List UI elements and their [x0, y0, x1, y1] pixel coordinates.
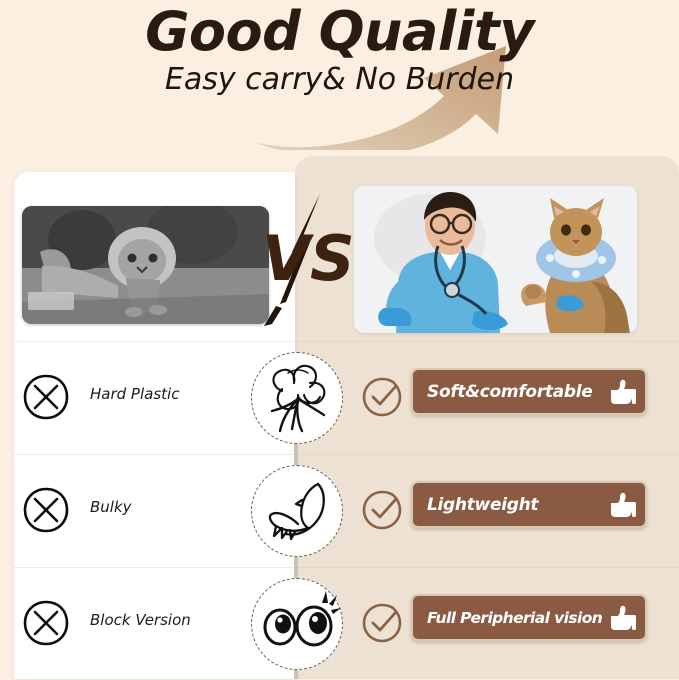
feature-circle [251, 352, 343, 444]
x-circle-icon [22, 486, 70, 534]
feather-icon [252, 466, 344, 558]
thumbs-up-icon [607, 603, 637, 633]
check-circle-icon [360, 600, 404, 644]
check-circle-icon [360, 487, 404, 531]
page-title: Good Quality [0, 4, 679, 61]
vs-badge: VS [258, 192, 354, 328]
thumbs-up-icon [607, 377, 637, 407]
thumbs-up-icon [607, 490, 637, 520]
cotton-flower-icon [252, 353, 344, 445]
con-label: Bulky [90, 498, 250, 516]
page-subtitle: Easy carry& No Burden [0, 63, 679, 96]
row-divider-left [14, 454, 295, 455]
row-divider-left [14, 567, 295, 568]
row-divider-right [295, 341, 679, 342]
pro-button[interactable]: Soft&comfortable [411, 368, 647, 415]
row-divider-left [14, 341, 295, 342]
pro-button[interactable]: Lightweight [411, 481, 647, 528]
feature-circle [251, 465, 343, 557]
title-block: Good Quality Easy carry& No Burden [0, 4, 679, 96]
row-divider-right [295, 454, 679, 455]
check-circle-icon [360, 374, 404, 418]
pro-label: Soft&comfortable [427, 382, 593, 402]
con-label: Block Version [90, 611, 250, 629]
con-label: Hard Plastic [90, 385, 250, 403]
pro-button[interactable]: Full Peripherial vision [411, 594, 647, 641]
header-banner: Good Quality Easy carry& No Burden [0, 0, 679, 152]
feature-circle [251, 578, 343, 670]
row-divider-right [295, 567, 679, 568]
before-photo [22, 206, 269, 324]
vs-label: VS [262, 222, 354, 295]
x-circle-icon [22, 599, 70, 647]
pro-label: Lightweight [427, 495, 538, 515]
pro-label: Full Peripherial vision [427, 609, 602, 627]
cartoon-eyes-icon [252, 579, 344, 671]
after-photo [354, 186, 637, 333]
x-circle-icon [22, 373, 70, 421]
